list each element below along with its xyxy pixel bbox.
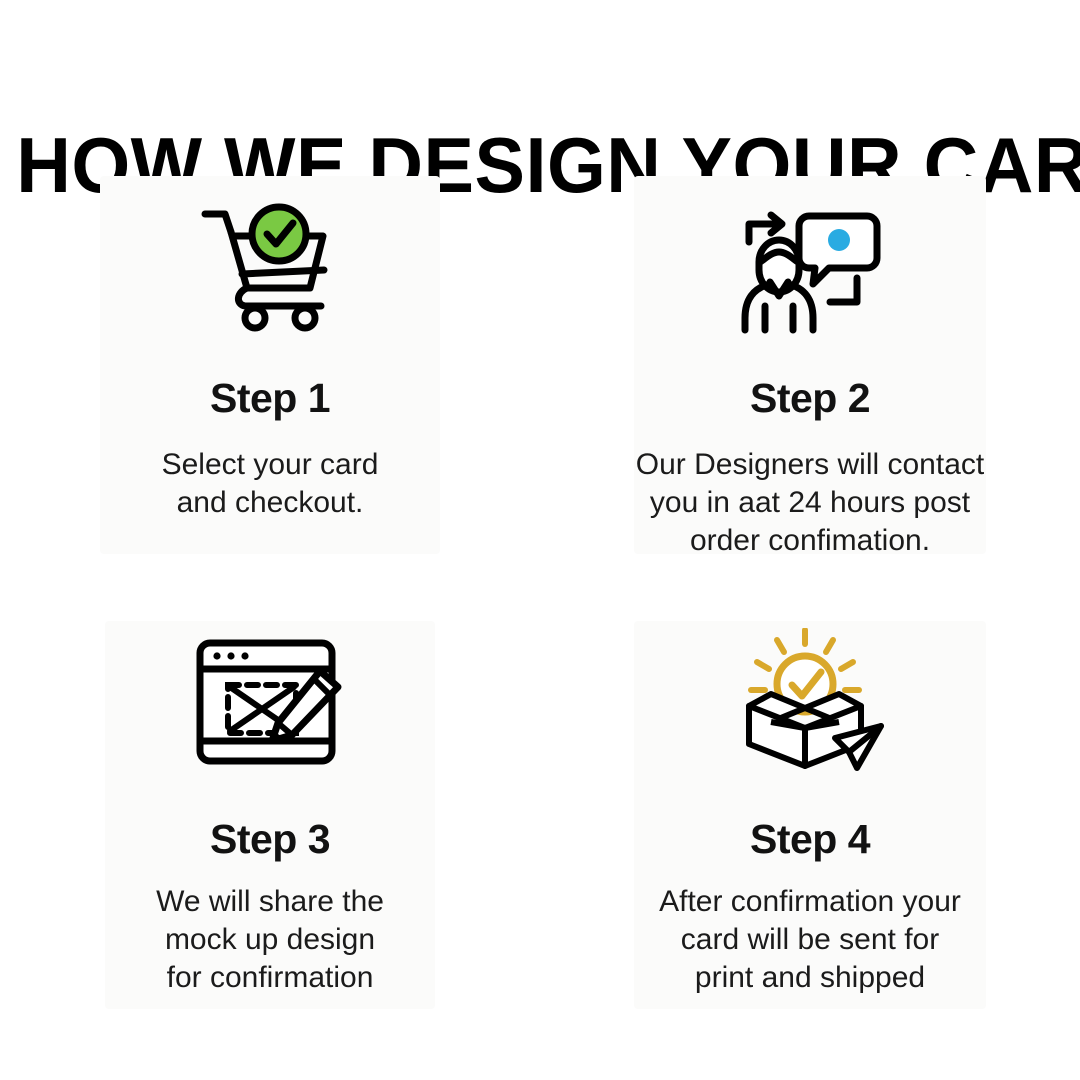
step-description: Our Designers will contact you in aat 24… (636, 446, 984, 560)
step-heading: Step 3 (210, 817, 330, 861)
steps-grid: Step 1 Select your card and checkout. (0, 172, 1080, 1062)
browser-design-edit-icon (180, 623, 360, 783)
designer-chat-icon (720, 186, 900, 346)
step-card-2: Step 2 Our Designers will contact you in… (540, 172, 1080, 617)
step-card-1: Step 1 Select your card and checkout. (0, 172, 540, 617)
shopping-cart-check-icon (180, 186, 360, 346)
shipping-box-check-icon (720, 623, 900, 783)
infographic-poster: HOW WE DESIGN YOUR CARD (0, 0, 1080, 1080)
step-heading: Step 2 (750, 376, 870, 420)
step-card-4: Step 4 After confirmation your card will… (540, 617, 1080, 1062)
step-description: We will share the mock up design for con… (156, 883, 384, 997)
step-card-3: Step 3 We will share the mock up design … (0, 617, 540, 1062)
step-heading: Step 4 (750, 817, 870, 861)
step-heading: Step 1 (210, 376, 330, 420)
step-description: After confirmation your card will be sen… (659, 883, 961, 997)
step-description: Select your card and checkout. (162, 446, 379, 522)
